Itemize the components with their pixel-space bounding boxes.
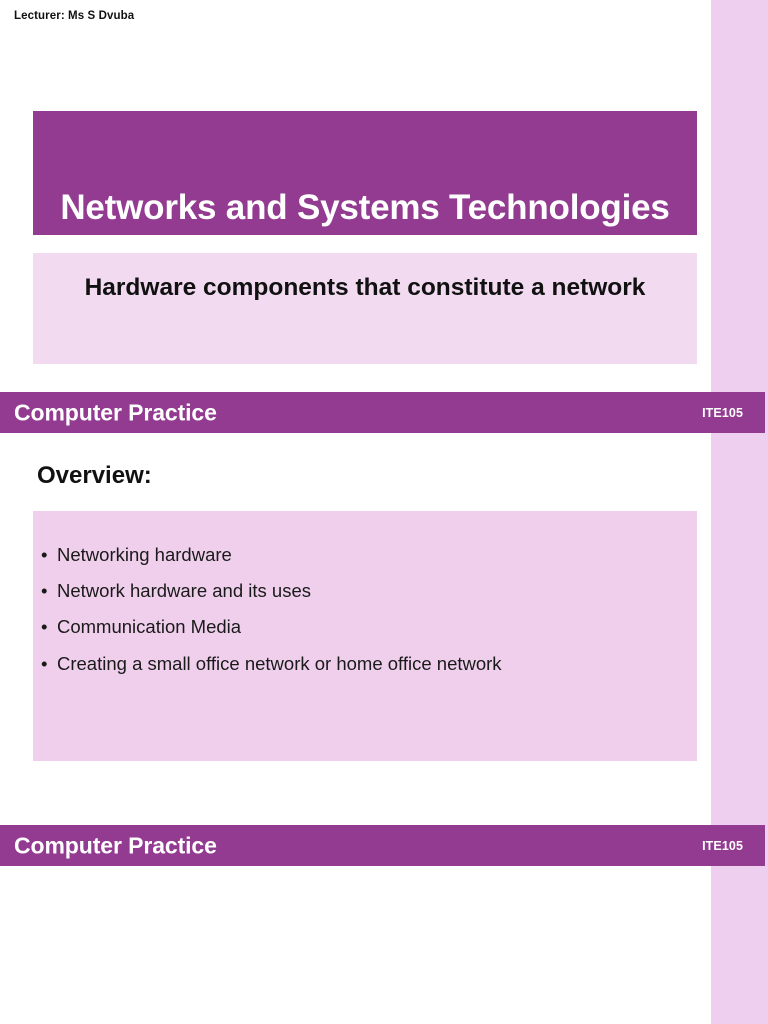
list-item: • Communication Media [41, 616, 687, 638]
overview-content-box: • Networking hardware • Network hardware… [33, 511, 697, 761]
lecturer-label: Lecturer: Ms S Dvuba [14, 10, 134, 22]
section-bar-top: Computer Practice ITE105 [0, 392, 765, 433]
list-item-label: Communication Media [57, 616, 687, 638]
list-item: • Network hardware and its uses [41, 580, 687, 602]
list-item-label: Creating a small office network or home … [57, 653, 687, 675]
section-bar-title: Computer Practice [14, 399, 217, 426]
slide-deck: Lecturer: Ms S Dvuba Networks and System… [0, 0, 768, 1024]
presentation-title: Networks and Systems Technologies [41, 190, 689, 227]
list-item: • Networking hardware [41, 544, 687, 566]
title-banner: Networks and Systems Technologies [33, 111, 697, 235]
bullet-marker-icon: • [41, 653, 57, 675]
overview-heading: Overview: [37, 462, 152, 490]
section-bar-bottom: Computer Practice ITE105 [0, 825, 765, 866]
list-item: • Creating a small office network or hom… [41, 653, 687, 675]
list-item-label: Networking hardware [57, 544, 687, 566]
overview-bullet-list: • Networking hardware • Network hardware… [41, 544, 687, 689]
section-bar-title: Computer Practice [14, 832, 217, 859]
presentation-subtitle: Hardware components that constitute a ne… [39, 274, 691, 302]
section-bar-course-code: ITE105 [702, 839, 743, 853]
subtitle-box: Hardware components that constitute a ne… [33, 253, 697, 364]
bullet-marker-icon: • [41, 580, 57, 602]
bullet-marker-icon: • [41, 616, 57, 638]
bullet-marker-icon: • [41, 544, 57, 566]
list-item-label: Network hardware and its uses [57, 580, 687, 602]
section-bar-course-code: ITE105 [702, 406, 743, 420]
